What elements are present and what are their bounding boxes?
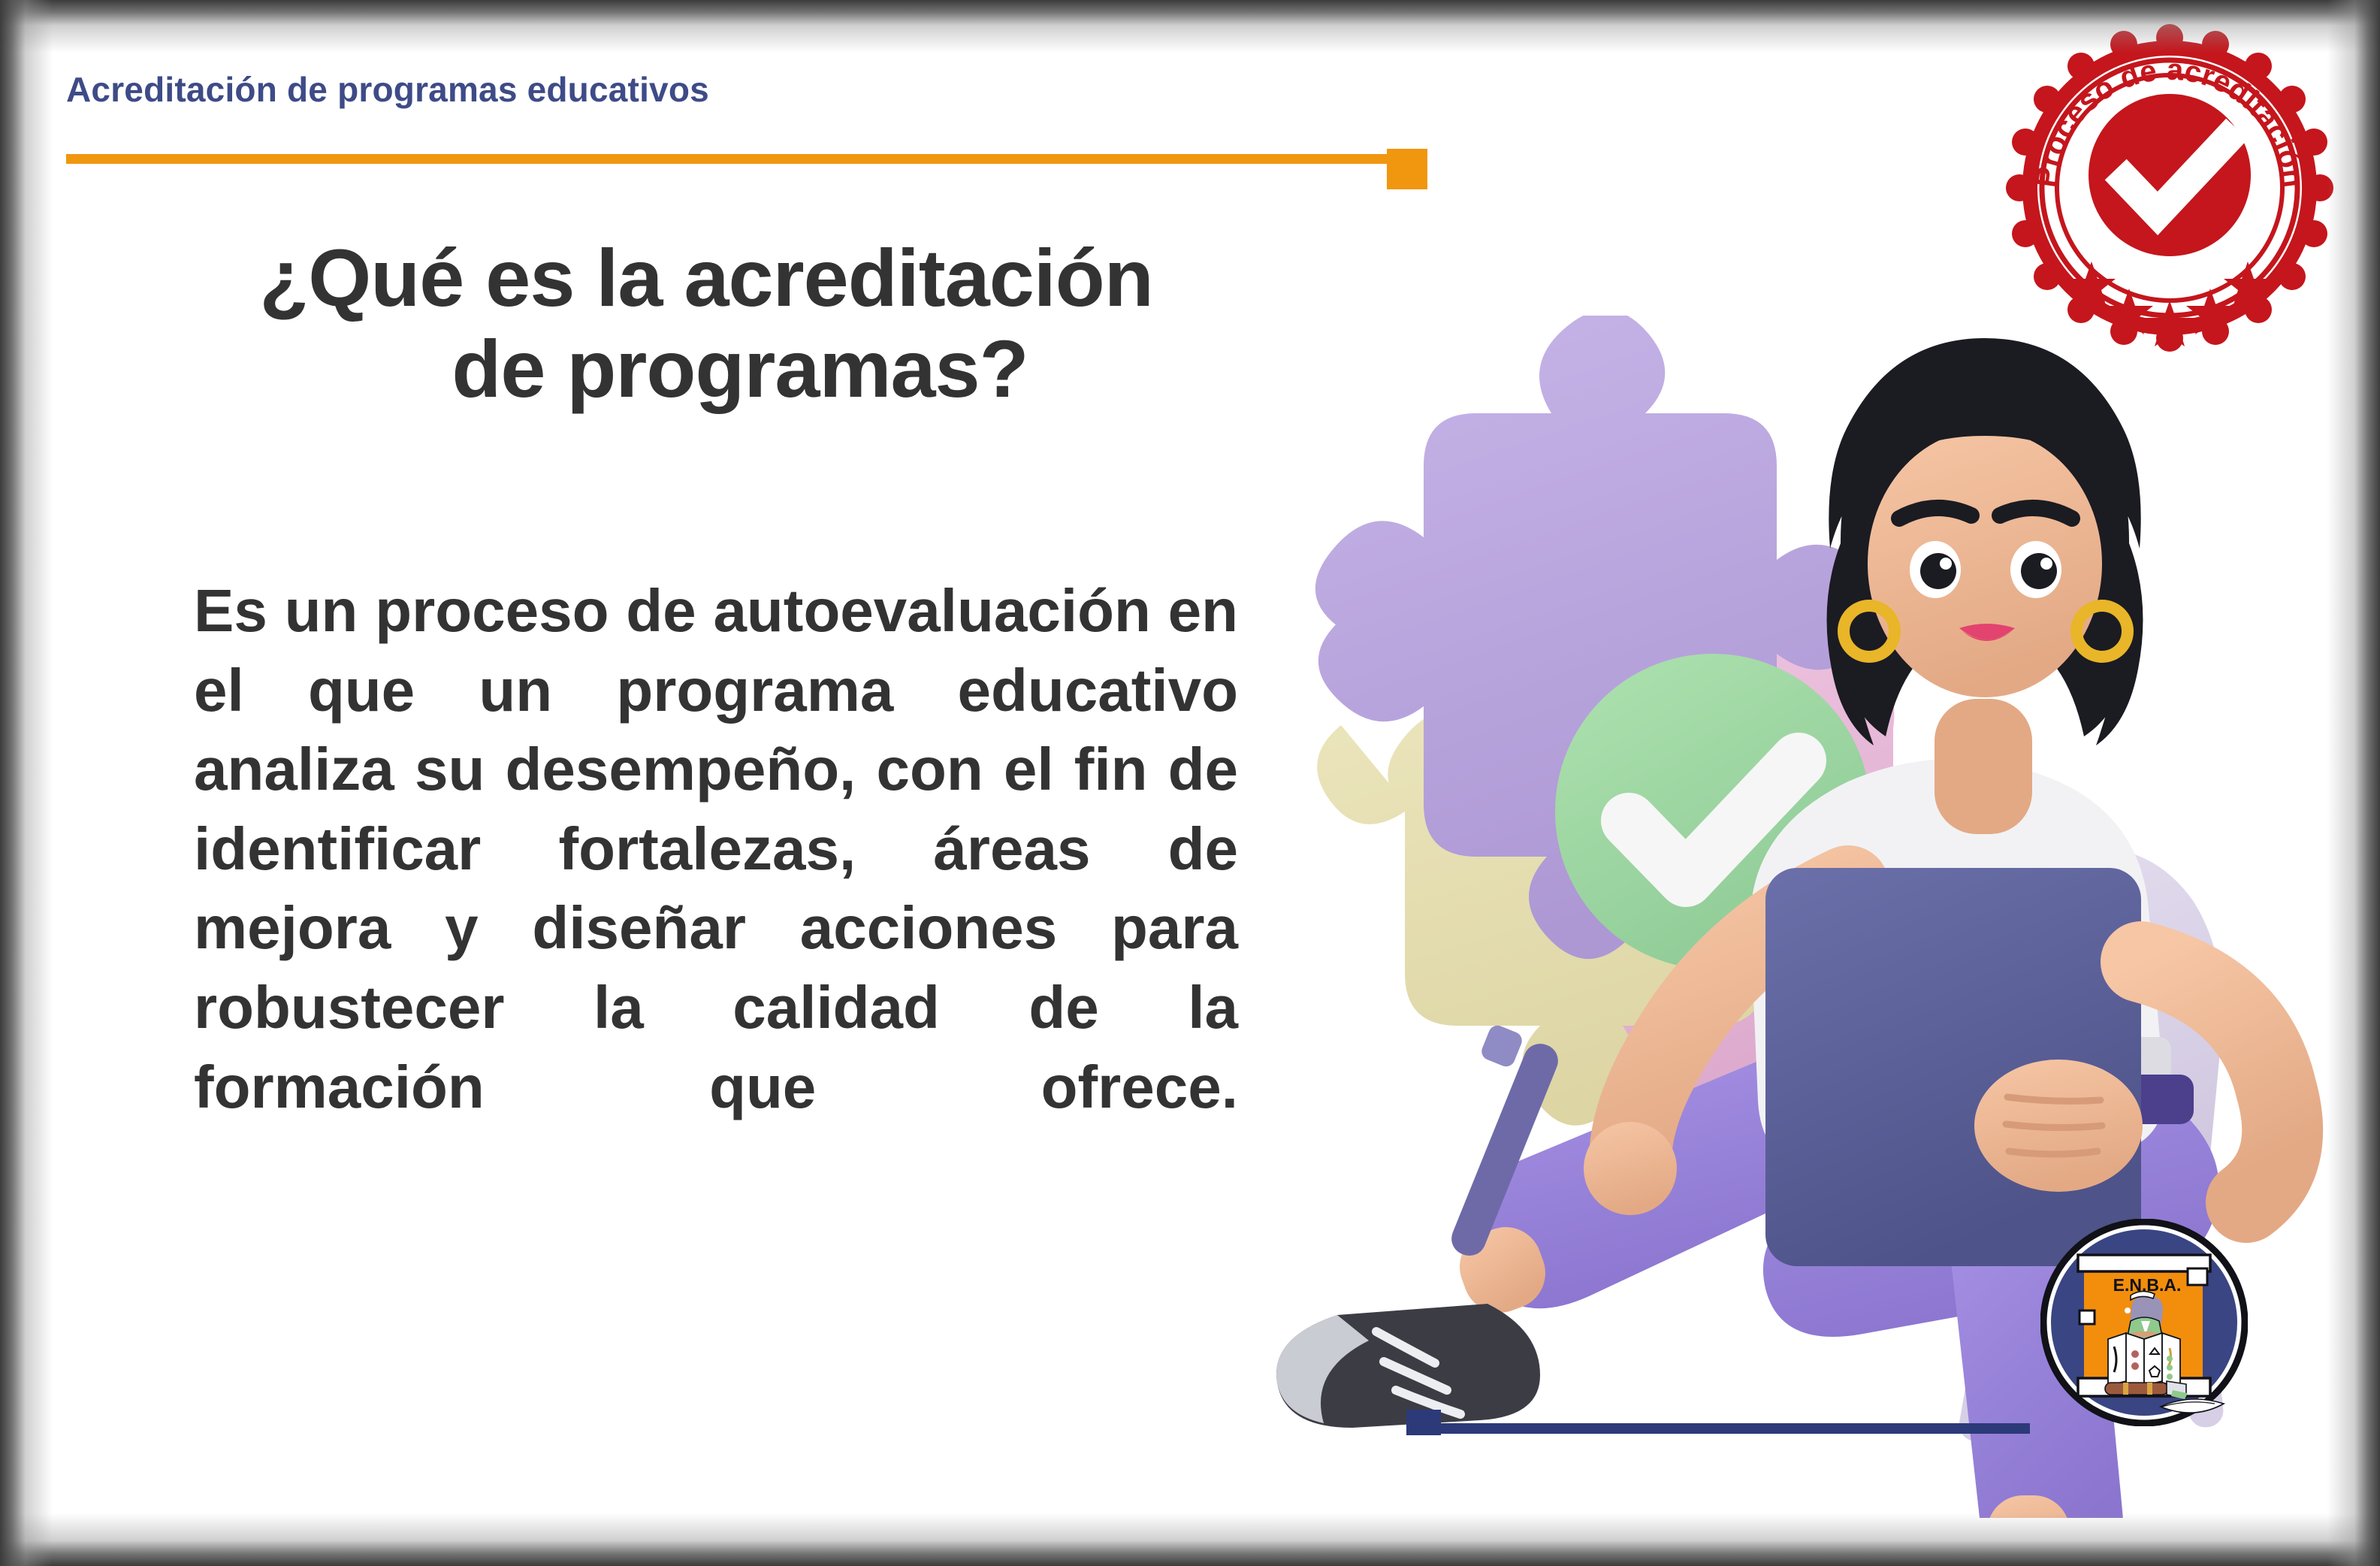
accreditation-stamp: Proceso de acreditación <box>2004 21 2335 352</box>
logo-manuscript <box>2108 1333 2180 1387</box>
character-head <box>1827 338 2143 745</box>
body-paragraph: Es un proceso de autoevaluación en el qu… <box>194 571 1238 1206</box>
page-eyebrow-title: Acreditación de programas educativos <box>66 69 709 110</box>
header-accent-rule <box>66 149 1426 168</box>
slide-canvas: Acreditación de programas educativos ¿Qu… <box>0 0 2380 1566</box>
footer-rule-line <box>1433 1423 2030 1434</box>
footer-accent-rule <box>1406 1410 2030 1435</box>
header-rule-end-square <box>1387 149 1427 189</box>
page-title-line-1: ¿Qué es la acreditación <box>60 233 1352 324</box>
page-title-line-2: de programas? <box>60 324 1352 415</box>
page-title: ¿Qué es la acreditación de programas? <box>60 233 1352 415</box>
character-neck <box>1935 699 2032 834</box>
header-rule-line <box>66 154 1394 164</box>
enba-institutional-logo: 1945 E.N.B.A. <box>2040 1219 2248 1426</box>
